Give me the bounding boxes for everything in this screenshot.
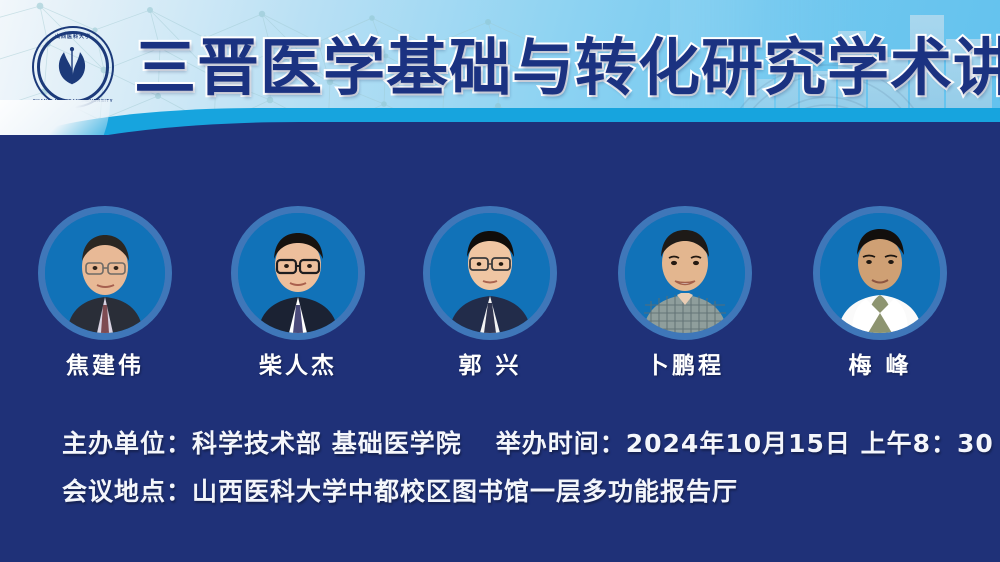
- page-title: 三晋医学基础与转化研究学术讲坛: [134, 30, 1000, 106]
- avatar: [625, 213, 745, 333]
- speaker-name: 卜鹏程: [617, 346, 753, 380]
- speaker-name: 柴人杰: [230, 346, 366, 380]
- university-logo: 山西医科大学 SHANXI MEDICAL UNIVERSITY: [32, 26, 114, 108]
- speaker-name: 郭 兴: [422, 346, 558, 380]
- organizer-label: 主办单位：: [62, 429, 192, 458]
- avatar: [430, 213, 550, 333]
- time-label: 举办时间：: [496, 429, 626, 458]
- speaker-name: 梅 峰: [812, 346, 948, 380]
- logo-name-cn: 山西医科大学: [32, 33, 114, 40]
- portrait-photo: [430, 213, 550, 333]
- avatar: [820, 213, 940, 333]
- flame-emblem-icon: [51, 44, 95, 88]
- time-value: 2024年10月15日 上午8：30: [626, 429, 994, 458]
- portrait-photo: [820, 213, 940, 333]
- info-line-venue: 会议地点：山西医科大学中都校区图书馆一层多功能报告厅: [62, 479, 962, 504]
- speaker-card-2: 柴人杰: [230, 213, 366, 380]
- speaker-list: 焦建伟: [0, 213, 1000, 403]
- avatar: [45, 213, 165, 333]
- event-poster: MEDICAL 山西医科大学 SHANXI MEDICAL UNIVERSITY…: [0, 0, 1000, 562]
- speaker-card-4: 卜鹏程: [617, 213, 753, 380]
- poster-body: 焦建伟: [0, 135, 1000, 562]
- event-info: 主办单位：科学技术部 基础医学院举办时间：2024年10月15日 上午8：30 …: [62, 431, 962, 504]
- info-line-organizer-time: 主办单位：科学技术部 基础医学院举办时间：2024年10月15日 上午8：30: [62, 431, 962, 456]
- organizer-value: 科学技术部 基础医学院: [192, 429, 462, 458]
- portrait-photo: [238, 213, 358, 333]
- speaker-name: 焦建伟: [37, 346, 173, 380]
- speaker-card-3: 郭 兴: [422, 213, 558, 380]
- portrait-photo: [625, 213, 745, 333]
- portrait-photo: [45, 213, 165, 333]
- avatar: [238, 213, 358, 333]
- speaker-card-1: 焦建伟: [37, 213, 173, 380]
- speaker-card-5: 梅 峰: [812, 213, 948, 380]
- venue-value: 山西医科大学中都校区图书馆一层多功能报告厅: [192, 477, 738, 506]
- venue-label: 会议地点：: [62, 477, 192, 506]
